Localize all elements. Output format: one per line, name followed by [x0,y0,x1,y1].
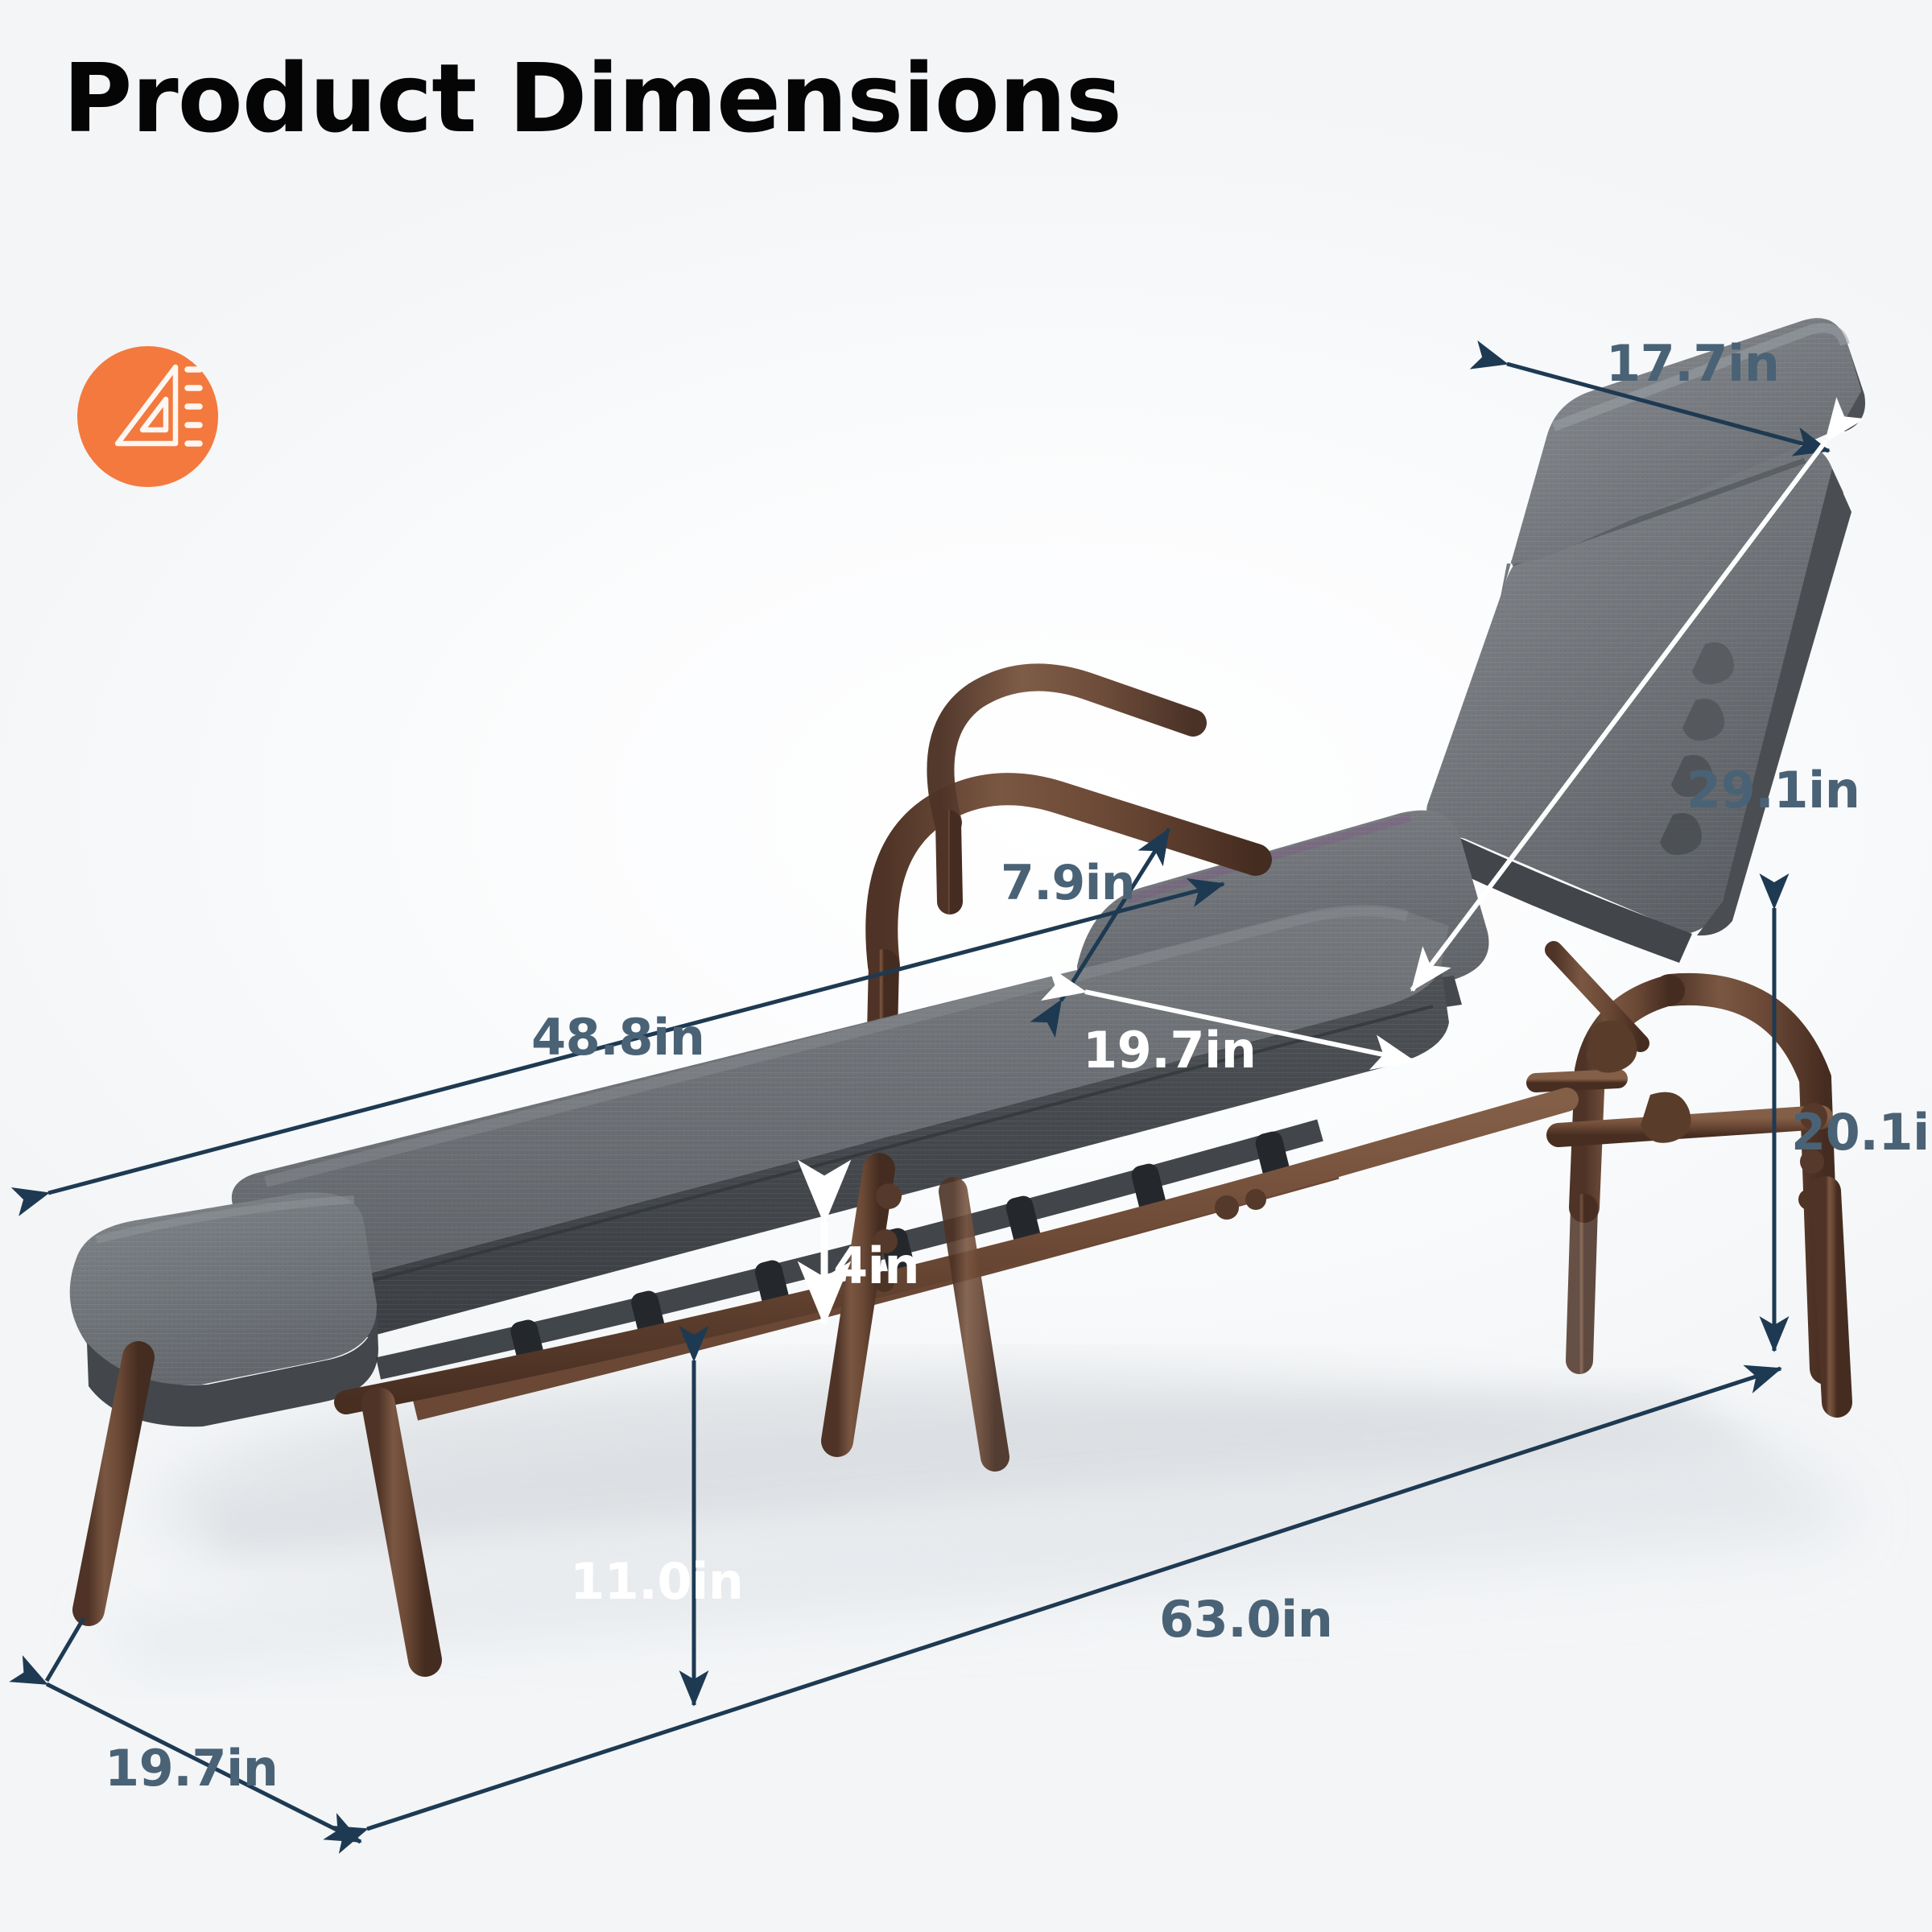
arrow-foot-leg-guide [47,1618,84,1681]
dimension-label-headrest-width: 17.7in [1606,334,1779,393]
dimension-label-seat-width-mid: 19.7in [1083,1021,1256,1080]
dimension-label-lumbar-depth: 7.9in [1001,855,1135,911]
dimension-label-backrest-length: 29.1in [1686,761,1860,819]
dimension-label-cushion-length: 48.8in [531,1008,704,1067]
dimension-label-seat-height-front: 11.0in [570,1552,743,1611]
dimension-label-cushion-thickness: 4in [833,1236,919,1295]
dimension-label-overall-length: 63.0in [1159,1590,1332,1649]
dimension-label-overall-width: 19.7in [105,1739,278,1798]
ruler-ticks-icon [188,369,200,444]
dimension-label-seat-height-rear: 20.1in [1791,1103,1932,1162]
page-title: Product Dimensions [63,50,1121,148]
dimension-arrows-layer [0,0,1932,1932]
product-dimensions-infographic: Product Dimensions 17.7in 29.1in 7.9in 4… [0,0,1932,1932]
arrow-backrest-length [1412,441,1826,990]
triangle-ruler-badge [77,346,218,487]
triangle-ruler-icon [118,367,175,444]
